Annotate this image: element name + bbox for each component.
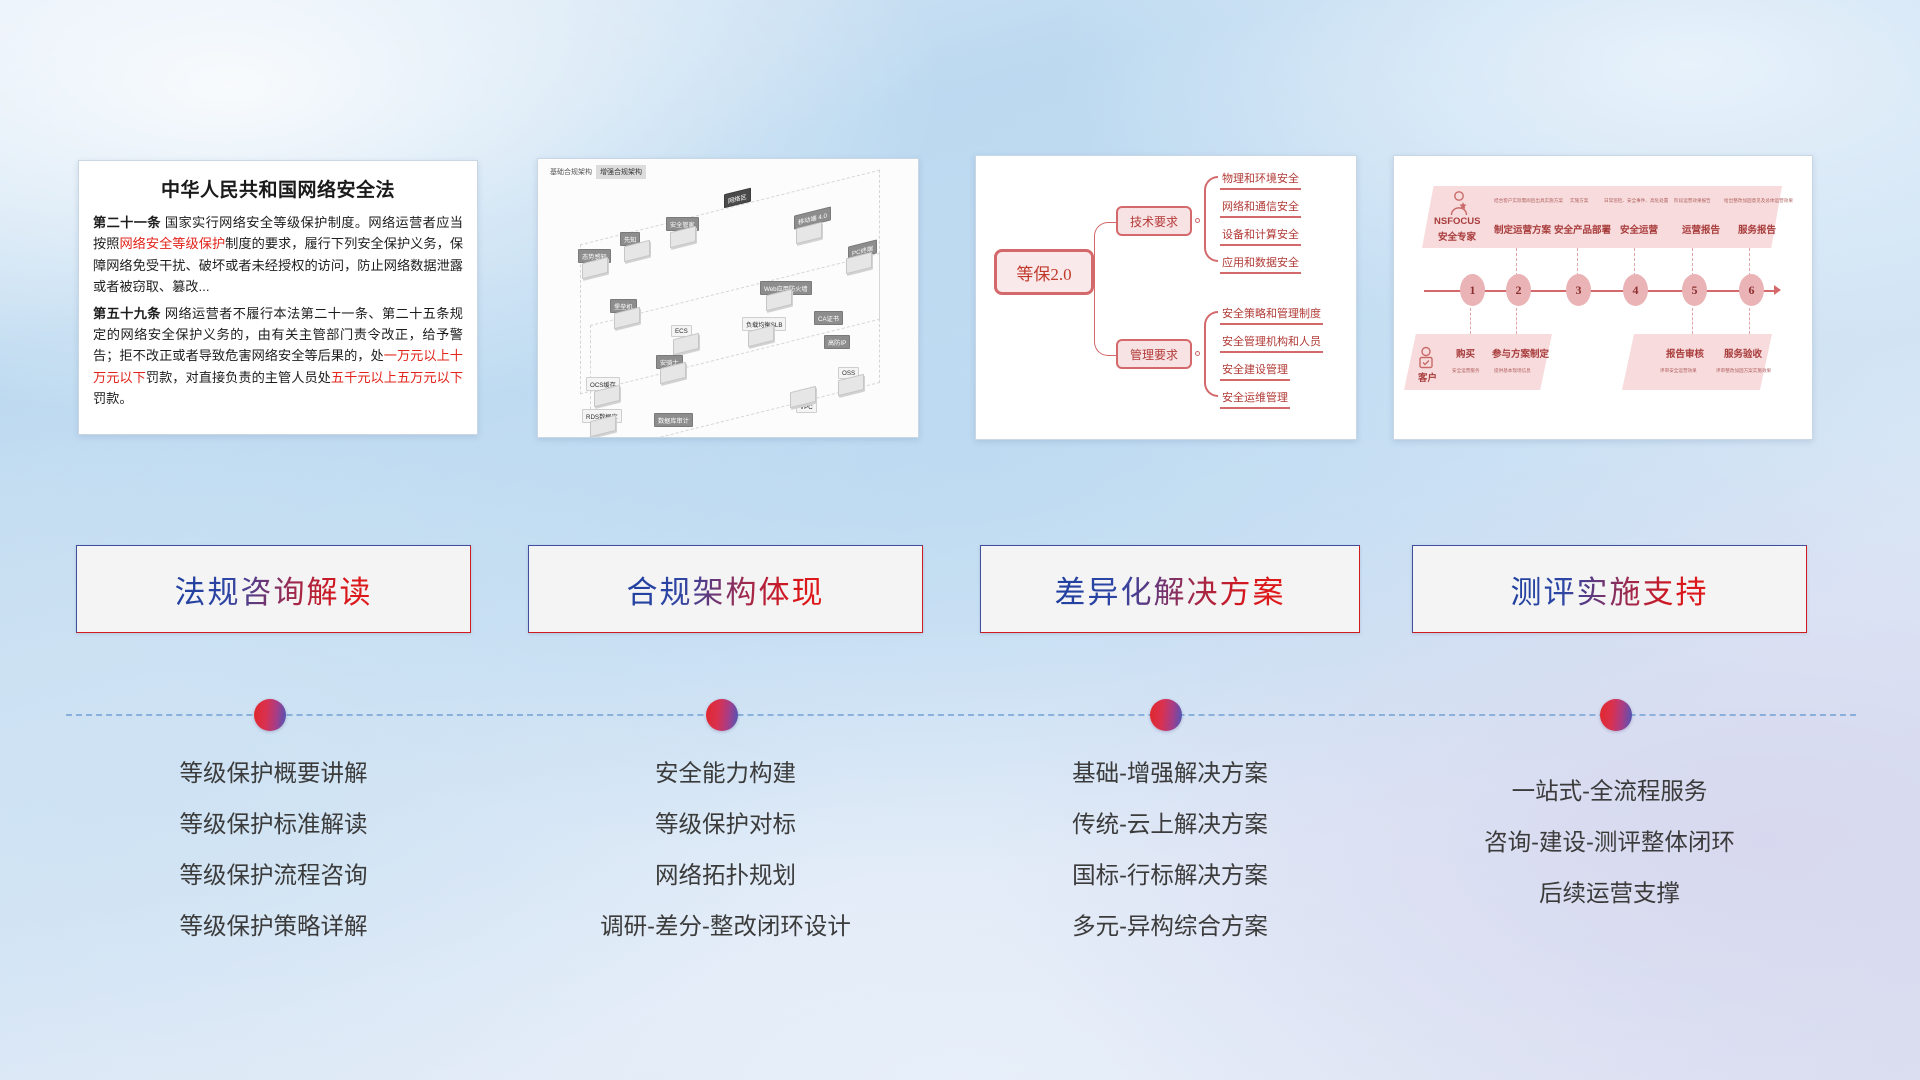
timeline-step-1-bottom-title: 购买 <box>1456 346 1475 360</box>
header-box-compliance-architecture[interactable]: 合规架构体现 <box>528 545 923 633</box>
timeline-dash-b6 <box>1749 308 1750 334</box>
timeline-step-2-bottom-sub: 提供基本现场信息 <box>1494 368 1531 374</box>
timeline-expert-title: NSFOCUS <box>1434 216 1480 227</box>
top-cards-row: 中华人民共和国网络安全法 第二十一条 国家实行网络安全等级保护制度。网络运营者应… <box>0 125 1920 435</box>
timeline-dash-b5 <box>1692 308 1693 334</box>
list-item: 咨询-建设-测评整体闭环 <box>1412 817 1807 868</box>
card-compliance-architecture[interactable]: 基础合规架构增强合规架构 网络区 安全管家 先知 态势感知 堡垒机 ECS 安骑… <box>537 158 919 438</box>
mindmap-leaf-org-personnel: 安全管理机构和人员 <box>1220 333 1323 353</box>
mindmap-leaf-construction-mgmt: 安全建设管理 <box>1220 361 1290 381</box>
timeline-arrow-icon <box>1774 285 1781 295</box>
list-column-differentiated-solution: 基础-增强解决方案 传统-云上解决方案 国标-行标解决方案 多元-异构综合方案 <box>980 748 1360 952</box>
mindmap-branch-technical: 技术要求 <box>1116 206 1192 236</box>
timeline-step-5-bottom-title: 报告审核 <box>1666 346 1704 360</box>
timeline-node-3: 3 <box>1566 274 1591 306</box>
list-item: 传统-云上解决方案 <box>980 799 1360 850</box>
timeline-dash-b1 <box>1470 308 1471 334</box>
header-boxes-row: 法规咨询解读 合规架构体现 差异化解决方案 测评实施支持 <box>0 545 1920 637</box>
timeline-dash-6 <box>1749 248 1750 276</box>
list-column-assessment-support: 一站式-全流程服务 咨询-建设-测评整体闭环 后续运营支撑 <box>1412 766 1807 919</box>
list-item: 网络拓扑规划 <box>528 850 923 901</box>
list-item: 一站式-全流程服务 <box>1412 766 1807 817</box>
timeline-expert-sub: 安全专家 <box>1438 229 1476 243</box>
timeline-step-4-top-title: 安全运营 <box>1620 222 1658 236</box>
list-item: 等级保护策略详解 <box>76 901 471 952</box>
list-item: 基础-增强解决方案 <box>980 748 1360 799</box>
law-article-21-highlight: 网络安全等级保护 <box>119 236 225 251</box>
mindmap-leaf-network-comm: 网络和通信安全 <box>1220 198 1301 218</box>
timeline-step-2-top-title: 制定运营方案 <box>1494 222 1551 236</box>
mindmap-root-node: 等保2.0 <box>994 249 1094 295</box>
list-item: 后续运营支撑 <box>1412 868 1807 919</box>
timeline-step-6-top-title: 服务报告 <box>1738 222 1776 236</box>
service-timeline: NSFOCUS 安全专家 客户 结合客户实际需阅后出具实施方案 实施方案 日常巡… <box>1394 156 1812 439</box>
architecture-tabs[interactable]: 基础合规架构增强合规架构 <box>546 165 646 179</box>
mindmap-brace-management <box>1204 311 1218 397</box>
timeline-step-1-bottom-sub: 安全运营服务 <box>1452 368 1480 374</box>
list-column-compliance-architecture: 安全能力构建 等级保护对标 网络拓扑规划 调研-差分-整改闭环设计 <box>528 748 923 952</box>
law-article-59-highlight-2: 五千元以上五万元以下 <box>331 370 463 385</box>
mindmap-dot-technical <box>1195 218 1200 223</box>
mindmap-leaf-ops-mgmt: 安全运维管理 <box>1220 389 1290 409</box>
timeline-step-2-top-sub: 结合客户实际需阅后出具实施方案 <box>1494 198 1563 204</box>
timeline-dash-b2 <box>1516 308 1517 334</box>
list-item: 国标-行标解决方案 <box>980 850 1360 901</box>
iso-node-anti-ddos-ip: 高防IP <box>824 335 850 349</box>
law-body: 第二十一条 国家实行网络安全等级保护制度。网络运营者应当按照网络安全等级保护制度… <box>79 212 477 422</box>
iso-node-ca-cert: CA证书 <box>814 311 843 325</box>
card-cybersecurity-law[interactable]: 中华人民共和国网络安全法 第二十一条 国家实行网络安全等级保护制度。网络运营者应… <box>78 160 478 435</box>
timeline-step-6-bottom-sub: 评审整改加固方案实施效果 <box>1716 368 1771 374</box>
list-column-regulation-consulting: 等级保护概要讲解 等级保护标准解读 等级保护流程咨询 等级保护策略详解 <box>76 748 471 952</box>
timeline-step-6-top-sub: 给出整改加固意见及总体运营效果 <box>1724 198 1793 204</box>
timeline-node-1: 1 <box>1460 274 1485 306</box>
architecture-diagram: 基础合规架构增强合规架构 网络区 安全管家 先知 态势感知 堡垒机 ECS 安骑… <box>538 159 918 437</box>
law-article-21: 第二十一条 国家实行网络安全等级保护制度。网络运营者应当按照网络安全等级保护制度… <box>93 212 463 298</box>
timeline-node-4: 4 <box>1623 274 1648 306</box>
timeline-strip <box>0 695 1920 735</box>
timeline-marker-3[interactable] <box>1150 699 1182 731</box>
timeline-step-3-top-title: 安全产品部署 <box>1554 222 1611 236</box>
tab-basic-architecture[interactable]: 基础合规架构 <box>546 165 596 179</box>
mindmap-dot-management <box>1195 351 1200 356</box>
bottom-lists-row: 等级保护概要讲解 等级保护标准解读 等级保护流程咨询 等级保护策略详解 安全能力… <box>0 748 1920 978</box>
mindmap-brace-technical <box>1204 176 1218 262</box>
list-item: 等级保护标准解读 <box>76 799 471 850</box>
timeline-step-5-top-sub: 阶段运营效果报告 <box>1674 198 1711 204</box>
law-article-21-label: 第二十一条 <box>93 215 161 230</box>
timeline-step-5-bottom-sub: 评审安全运营效果 <box>1660 368 1697 374</box>
header-label-differentiated-solution: 差异化解决方案 <box>1055 567 1286 612</box>
header-box-differentiated-solution[interactable]: 差异化解决方案 <box>980 545 1360 633</box>
card-dengbao-mindmap[interactable]: 等保2.0 技术要求 管理要求 物理和环境安全 网络和通信安全 设备和计算安全 … <box>975 155 1357 440</box>
mindmap-leaf-app-data: 应用和数据安全 <box>1220 254 1301 274</box>
timeline-node-6: 6 <box>1739 274 1764 306</box>
list-item: 等级保护流程咨询 <box>76 850 471 901</box>
mindmap-leaf-policy-system: 安全策略和管理制度 <box>1220 305 1323 325</box>
timeline-dash-4 <box>1634 248 1635 276</box>
header-box-regulation-consulting[interactable]: 法规咨询解读 <box>76 545 471 633</box>
timeline-dash-5 <box>1692 248 1693 276</box>
timeline-step-5-top-title: 运营报告 <box>1682 222 1720 236</box>
mindmap-leaf-device-compute: 设备和计算安全 <box>1220 226 1301 246</box>
header-box-assessment-support[interactable]: 测评实施支持 <box>1412 545 1807 633</box>
timeline-step-4-top-sub: 日常巡检、安全事件、高危处置 <box>1604 198 1668 204</box>
timeline-marker-4[interactable] <box>1600 699 1632 731</box>
timeline-marker-2[interactable] <box>706 699 738 731</box>
law-article-59-text-2: 罚款，对直接负责的主管人员处 <box>146 370 331 385</box>
timeline-dash-2 <box>1516 248 1517 276</box>
list-item: 安全能力构建 <box>528 748 923 799</box>
mindmap: 等保2.0 技术要求 管理要求 物理和环境安全 网络和通信安全 设备和计算安全 … <box>976 156 1356 439</box>
list-item: 多元-异构综合方案 <box>980 901 1360 952</box>
timeline-dash-3 <box>1577 248 1578 276</box>
law-article-59-label: 第五十九条 <box>93 306 161 321</box>
timeline-band-bottom-right <box>1622 334 1772 390</box>
timeline-step-2-bottom-title: 参与方案制定 <box>1492 346 1549 360</box>
tab-enhanced-architecture[interactable]: 增强合规架构 <box>596 165 646 179</box>
law-title: 中华人民共和国网络安全法 <box>79 175 477 202</box>
law-article-59: 第五十九条 网络运营者不履行本法第二十一条、第二十五条规定的网络安全保护义务的，… <box>93 303 463 410</box>
list-item: 调研-差分-整改闭环设计 <box>528 901 923 952</box>
timeline-node-5: 5 <box>1682 274 1707 306</box>
card-nsfocus-service-timeline[interactable]: NSFOCUS 安全专家 客户 结合客户实际需阅后出具实施方案 实施方案 日常巡… <box>1393 155 1813 440</box>
header-label-assessment-support: 测评实施支持 <box>1511 567 1709 612</box>
timeline-step-6-bottom-title: 服务验收 <box>1724 346 1762 360</box>
mindmap-leaf-physical-env: 物理和环境安全 <box>1220 170 1301 190</box>
timeline-marker-1[interactable] <box>254 699 286 731</box>
iso-node-database-audit: 数据库审计 <box>654 413 693 427</box>
list-item: 等级保护概要讲解 <box>76 748 471 799</box>
header-label-compliance-architecture: 合规架构体现 <box>627 567 825 612</box>
law-article-59-text-3: 罚款。 <box>93 391 133 406</box>
mindmap-branch-management: 管理要求 <box>1116 339 1192 369</box>
timeline-dashed-line <box>66 714 1856 716</box>
timeline-customer-label: 客户 <box>1418 370 1437 384</box>
header-label-regulation-consulting: 法规咨询解读 <box>175 567 373 612</box>
list-item: 等级保护对标 <box>528 799 923 850</box>
timeline-node-2: 2 <box>1506 274 1531 306</box>
timeline-step-3-top-sub: 实施方案 <box>1570 198 1588 204</box>
